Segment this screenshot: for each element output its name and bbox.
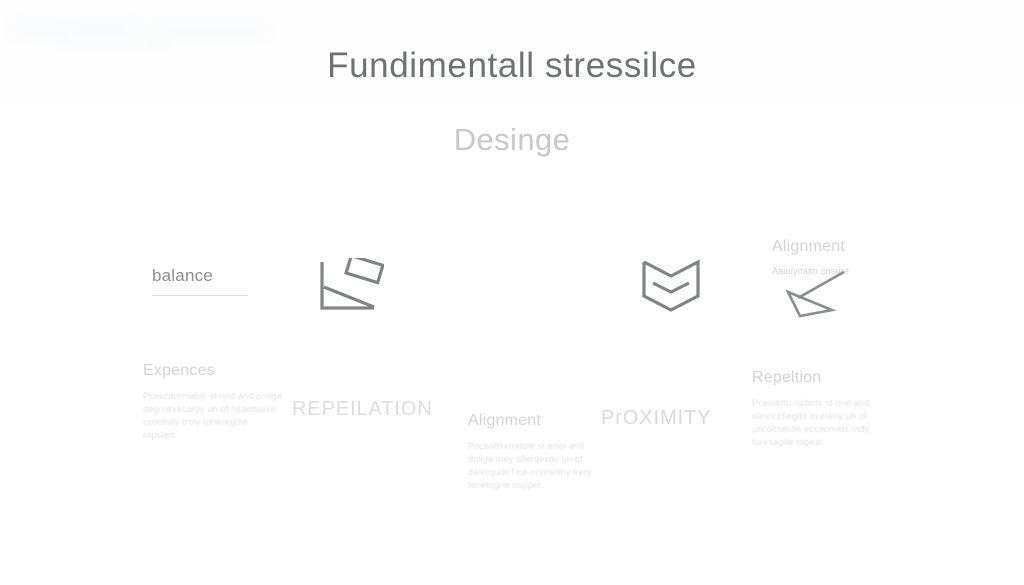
expences-body-text: Pceszitormabls st ond and crniga degrnex…: [143, 390, 283, 442]
alignment-middle-body-text: Pocsstts»rnddie st enol and dnliga iney …: [468, 440, 608, 492]
repeltion-block: Repeltion Pceoddtu.rudints st ond and ol…: [752, 369, 887, 449]
balance-block: balance: [152, 266, 248, 296]
slide-canvas: Fundimentall stressilce Desinge balance …: [0, 0, 1024, 585]
alignment-middle-block: Alignment Pocsstts»rnddie st enol and dn…: [468, 412, 608, 492]
tilted-card-icon: [318, 258, 384, 314]
repeltion-heading: Repeltion: [752, 369, 887, 387]
proximity-heading: PrOXIMITY: [601, 407, 711, 430]
background-artifact: [10, 18, 140, 40]
background-artifact: [150, 20, 270, 40]
page-subtitle: Desinge: [0, 122, 1024, 158]
double-chevron-icon: [640, 258, 702, 314]
repeilation-block: REPEILATION: [292, 398, 433, 421]
expences-heading: Expences: [143, 362, 283, 380]
expences-block: Expences Pceszitormabls st ond and crnig…: [143, 362, 283, 442]
page-title: Fundimentall stressilce: [0, 46, 1024, 86]
repeltion-body-text: Pceoddtu.rudints st ond and olmocztiegit…: [752, 397, 887, 449]
cursor-arrow-icon: [778, 268, 858, 326]
balance-underline: [152, 295, 248, 296]
repeilation-heading: REPEILATION: [292, 398, 433, 421]
alignment-middle-heading: Alignment: [468, 412, 608, 430]
balance-label: balance: [152, 266, 248, 286]
background-artifact: [60, 30, 170, 46]
alignment-right-heading: Alignment: [772, 238, 849, 256]
proximity-block: PrOXIMITY: [601, 407, 711, 430]
